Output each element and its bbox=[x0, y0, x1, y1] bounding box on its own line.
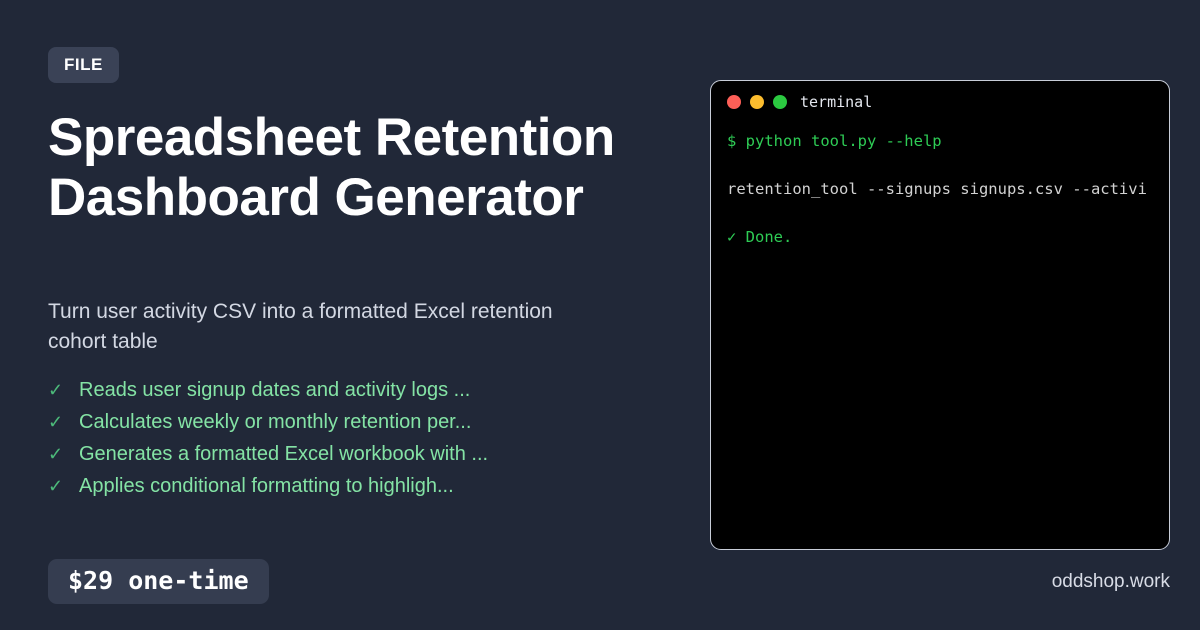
list-item-label: Calculates weekly or monthly retention p… bbox=[79, 406, 471, 438]
list-item-label: Generates a formatted Excel workbook wit… bbox=[79, 438, 488, 470]
zoom-icon[interactable] bbox=[773, 95, 787, 109]
left-column: FILE Spreadsheet Retention Dashboard Gen… bbox=[48, 0, 708, 630]
terminal-line-blank bbox=[727, 201, 1169, 225]
list-item: ✓ Generates a formatted Excel workbook w… bbox=[48, 438, 648, 470]
check-icon: ✓ bbox=[48, 374, 79, 406]
terminal-line-output: retention_tool --signups signups.csv --a… bbox=[727, 177, 1169, 201]
price-badge: $29 one-time bbox=[48, 559, 269, 604]
check-icon: ✓ bbox=[48, 470, 79, 502]
feature-list: ✓ Reads user signup dates and activity l… bbox=[48, 374, 648, 502]
footer-domain: oddshop.work bbox=[1052, 570, 1170, 594]
list-item-label: Applies conditional formatting to highli… bbox=[79, 470, 454, 502]
kind-badge: FILE bbox=[48, 47, 119, 83]
terminal-line-success: ✓ Done. bbox=[727, 225, 1169, 249]
promo-card: FILE Spreadsheet Retention Dashboard Gen… bbox=[0, 0, 1200, 630]
terminal-window: terminal $ python tool.py --help retenti… bbox=[710, 80, 1170, 550]
list-item: ✓ Calculates weekly or monthly retention… bbox=[48, 406, 648, 438]
close-icon[interactable] bbox=[727, 95, 741, 109]
terminal-titlebar: terminal bbox=[727, 93, 872, 111]
list-item: ✓ Reads user signup dates and activity l… bbox=[48, 374, 648, 406]
page-title: Spreadsheet Retention Dashboard Generato… bbox=[48, 108, 688, 228]
check-icon: ✓ bbox=[48, 438, 79, 470]
subtitle: Turn user activity CSV into a formatted … bbox=[48, 297, 608, 357]
terminal-title: terminal bbox=[800, 93, 872, 111]
check-icon: ✓ bbox=[48, 406, 79, 438]
list-item-label: Reads user signup dates and activity log… bbox=[79, 374, 470, 406]
terminal-body: $ python tool.py --help retention_tool -… bbox=[727, 129, 1169, 549]
terminal-line-command: $ python tool.py --help bbox=[727, 129, 1169, 153]
minimize-icon[interactable] bbox=[750, 95, 764, 109]
terminal-line-blank bbox=[727, 153, 1169, 177]
list-item: ✓ Applies conditional formatting to high… bbox=[48, 470, 648, 502]
